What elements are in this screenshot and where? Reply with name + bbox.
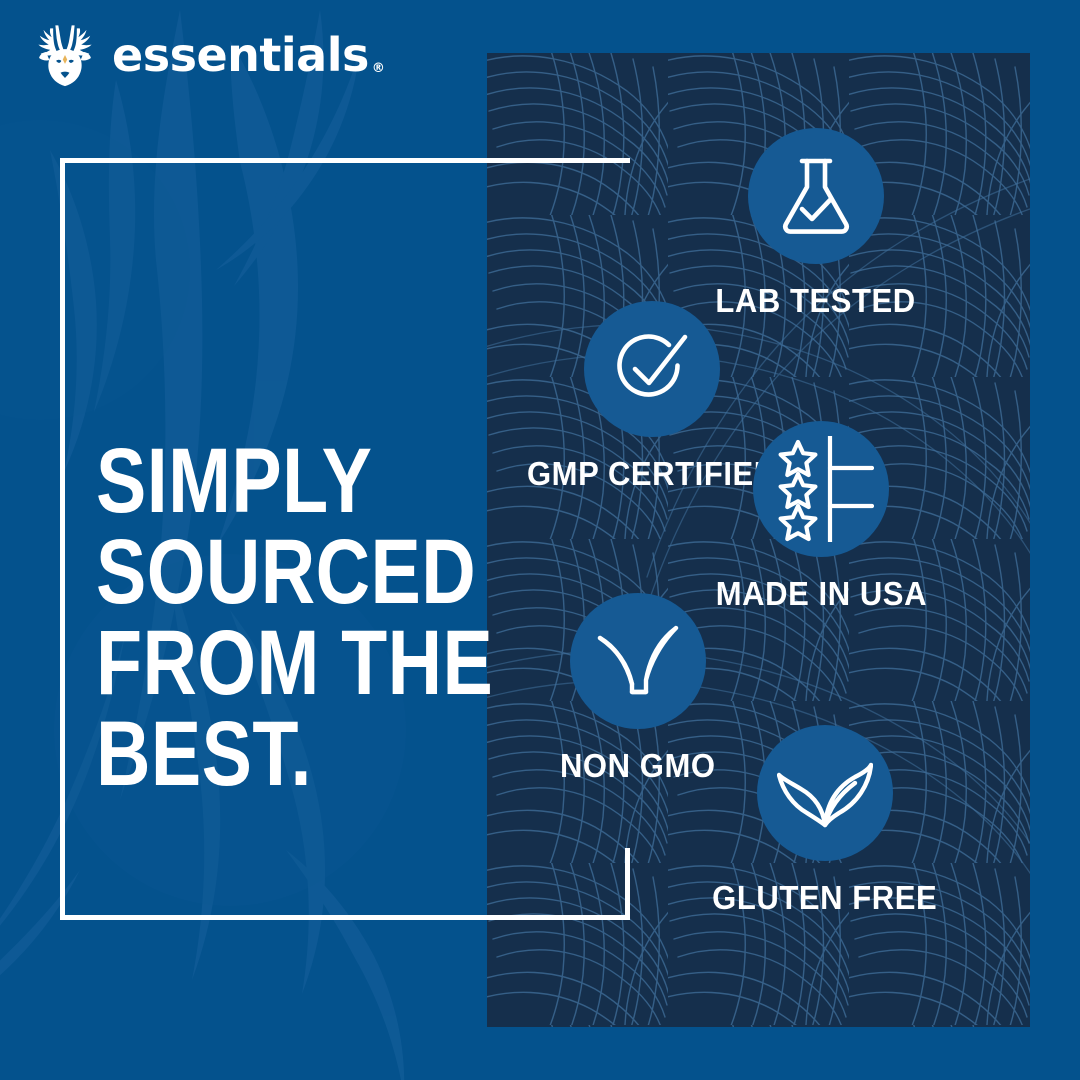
certification-panel: LAB TESTED GMP CERTIFIED [487,53,1030,1027]
badge-made-in-usa[interactable]: MADE IN USA [709,421,934,613]
badge-lab-tested[interactable]: LAB TESTED [709,128,922,320]
flask-check-icon [777,154,855,238]
headline-line-3: FROM THE [96,618,493,709]
badge-gluten-free[interactable]: GLUTEN FREE [705,725,944,917]
badge-disc [748,128,884,264]
badge-grid: LAB TESTED GMP CERTIFIED [487,53,1030,1027]
page-title: SIMPLY SOURCED FROM THE BEST. [96,436,493,800]
registered-mark: ® [372,62,385,75]
deer-head-icon [28,18,102,92]
brand-wordmark-text: essentials [112,32,369,78]
badge-disc [757,725,893,861]
headline-line-4: BEST. [96,709,493,800]
badge-disc [753,421,889,557]
badge-label: MADE IN USA [716,575,927,613]
brand-wordmark: essentials ® [112,32,384,78]
badge-disc [584,301,720,437]
frame-edge-left [60,158,65,920]
sprout-check-icon [594,622,682,700]
badge-label: NON GMO [560,747,716,785]
two-leaves-sprout-icon [777,753,873,833]
brand-lockup: essentials ® [28,18,384,92]
headline-line-1: SIMPLY [96,436,493,527]
headline-line-2: SOURCED [96,527,493,618]
badge-disc [570,593,706,729]
usa-flag-stars-stripes-icon [768,436,874,542]
circle-check-icon [609,327,695,411]
promo-graphic: essentials ® SIMPLY SOURCED FROM THE BES… [0,0,1080,1080]
badge-label: GLUTEN FREE [712,879,937,917]
badge-non-gmo[interactable]: NON GMO [555,593,721,785]
